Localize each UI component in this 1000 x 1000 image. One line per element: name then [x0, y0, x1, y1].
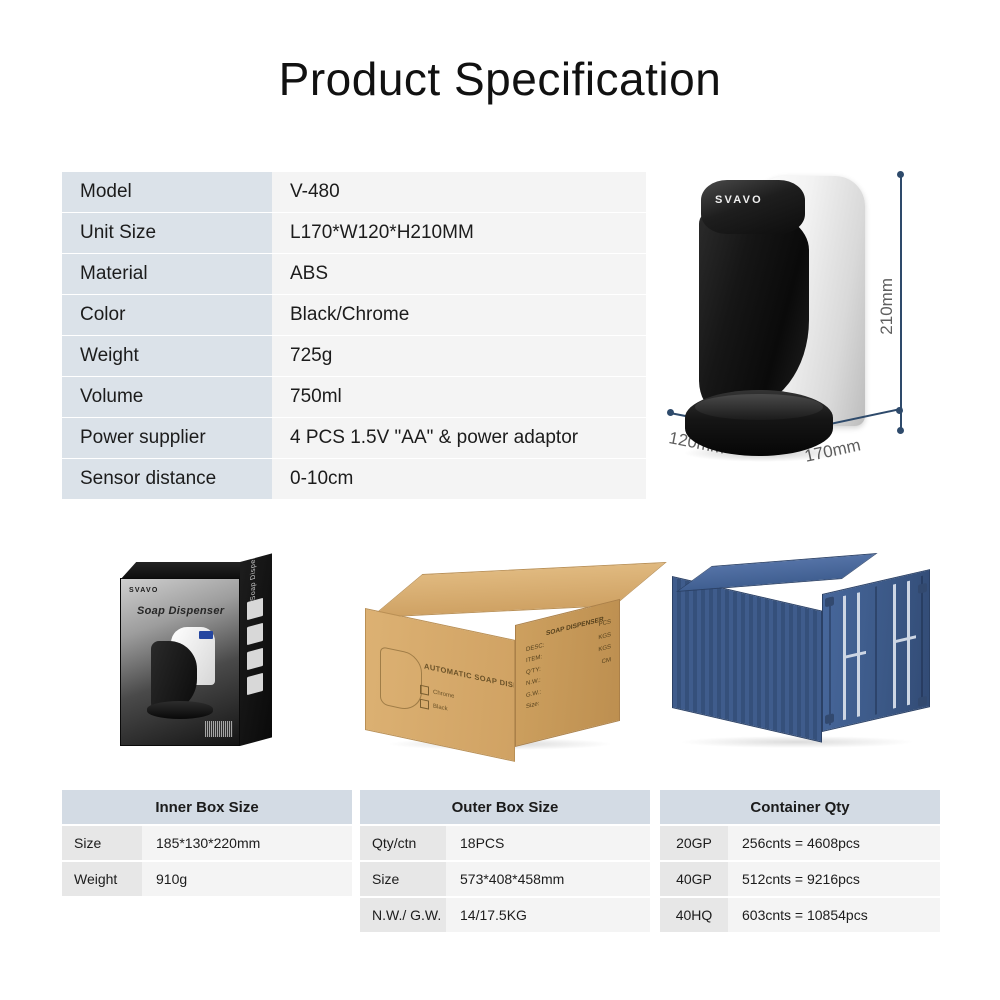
- carton-label-fields: DESC: ITEM: Q'TY: N.W.: G.W.: Size:: [526, 641, 544, 714]
- row-value: 256cnts = 4608pcs: [728, 826, 940, 860]
- table-row: Size 573*408*458mm: [360, 862, 650, 896]
- artwork-base: [147, 701, 213, 719]
- spec-label: Weight: [62, 336, 272, 376]
- dispenser-base: [685, 390, 833, 456]
- artwork-display-icon: [199, 631, 213, 639]
- row-value: 573*408*458mm: [446, 862, 650, 896]
- row-key: Size: [62, 826, 142, 860]
- row-key: 40HQ: [660, 898, 728, 932]
- checkbox-label: Black: [433, 703, 448, 712]
- container-shadow: [682, 736, 912, 748]
- container-corner-fitting: [825, 596, 834, 607]
- container-top-face: [676, 553, 878, 592]
- row-key: 20GP: [660, 826, 728, 860]
- container-rib: [829, 597, 831, 725]
- spec-value: 0-10cm: [272, 459, 646, 499]
- inner-box-product-name: Soap Dispenser: [137, 605, 224, 617]
- spec-value: Black/Chrome: [272, 295, 646, 335]
- dispenser-top-cap: SVAVO: [701, 180, 805, 234]
- carton-front-face: AUTOMATIC SOAP DISPENSER Chrome Black: [365, 608, 515, 762]
- spec-value: 4 PCS 1.5V "AA" & power adaptor: [272, 418, 646, 458]
- container-corner-fitting: [825, 713, 834, 724]
- carton-side-face: SOAP DISPENSER DESC: ITEM: Q'TY: N.W.: G…: [515, 599, 620, 747]
- spec-label: Unit Size: [62, 213, 272, 253]
- table-row: Qty/ctn 18PCS: [360, 826, 650, 860]
- table-header: Inner Box Size: [62, 790, 352, 824]
- carton-top-face: [370, 562, 667, 618]
- row-value: 603cnts = 10854pcs: [728, 898, 940, 932]
- row-key: 40GP: [660, 862, 728, 896]
- spec-label: Power supplier: [62, 418, 272, 458]
- table-row: Weight 725g: [62, 336, 646, 376]
- container-rib: [921, 576, 923, 704]
- inner-box-side-face: Soap Dispenser: [240, 553, 272, 746]
- carton-label-title: SOAP DISPENSER: [546, 616, 604, 637]
- table-row: Weight 910g: [62, 862, 352, 896]
- specification-table: Model V-480 Unit Size L170*W120*H210MM M…: [62, 172, 646, 500]
- inner-box-size-table: Inner Box Size Size 185*130*220mm Weight…: [62, 790, 352, 898]
- container-side-face: [672, 576, 822, 743]
- inner-box-feature-icons: [247, 597, 265, 702]
- dimension-endpoint-icon: [896, 407, 903, 414]
- outer-carton-image: AUTOMATIC SOAP DISPENSER Chrome Black SO…: [360, 570, 650, 750]
- table-header: Container Qty: [660, 790, 940, 824]
- outer-box-size-table: Outer Box Size Qty/ctn 18PCS Size 573*40…: [360, 790, 650, 934]
- inner-box-image: Soap Dispenser SVAVO Soap Dispenser: [112, 556, 280, 756]
- brand-logo: SVAVO: [715, 194, 763, 206]
- container-door-bar: [893, 584, 896, 709]
- dispenser-base-top: [695, 394, 823, 420]
- spec-value: 725g: [272, 336, 646, 376]
- checkbox-row: Chrome: [420, 685, 454, 701]
- row-value: 910g: [142, 862, 352, 896]
- table-row: Sensor distance 0-10cm: [62, 459, 646, 499]
- container-rib: [875, 586, 877, 714]
- feature-icon: [247, 648, 263, 670]
- row-key: N.W./ G.W.: [360, 898, 446, 932]
- table-row: Color Black/Chrome: [62, 295, 646, 335]
- page-title: Product Specification: [0, 52, 1000, 106]
- dimension-endpoint-icon: [667, 409, 674, 416]
- table-row: N.W./ G.W. 14/17.5KG: [360, 898, 650, 932]
- row-key: Qty/ctn: [360, 826, 446, 860]
- table-row: Material ABS: [62, 254, 646, 294]
- container-corner-fitting: [918, 696, 927, 707]
- container-door-handle: [844, 651, 866, 659]
- container-qty-table: Container Qty 20GP 256cnts = 4608pcs 40G…: [660, 790, 940, 934]
- checkbox-label: Chrome: [433, 689, 454, 700]
- row-value: 185*130*220mm: [142, 826, 352, 860]
- table-row: Volume 750ml: [62, 377, 646, 417]
- spec-label: Color: [62, 295, 272, 335]
- dimension-endpoint-icon: [897, 171, 904, 178]
- table-row: Power supplier 4 PCS 1.5V "AA" & power a…: [62, 418, 646, 458]
- container-door-bar: [907, 581, 910, 706]
- table-row: Size 185*130*220mm: [62, 826, 352, 860]
- row-key: Size: [360, 862, 446, 896]
- carton-color-options: Chrome Black: [420, 685, 454, 720]
- table-row: Unit Size L170*W120*H210MM: [62, 213, 646, 253]
- table-row: 40GP 512cnts = 9216pcs: [660, 862, 940, 896]
- container-door-handle: [894, 635, 916, 643]
- spec-value: V-480: [272, 172, 646, 212]
- dimension-label-height: 210mm: [877, 278, 897, 335]
- inner-box-product-artwork: [147, 627, 221, 719]
- row-value: 512cnts = 9216pcs: [728, 862, 940, 896]
- table-header: Outer Box Size: [360, 790, 650, 824]
- spec-value: ABS: [272, 254, 646, 294]
- spec-label: Model: [62, 172, 272, 212]
- table-row: 20GP 256cnts = 4608pcs: [660, 826, 940, 860]
- container-door-face: [822, 569, 930, 732]
- inner-box-side-text: Soap Dispenser: [250, 553, 257, 601]
- checkbox-icon: [420, 685, 429, 696]
- feature-icon: [247, 623, 263, 645]
- row-value: 18PCS: [446, 826, 650, 860]
- checkbox-row: Black: [420, 699, 454, 715]
- feature-icon: [247, 598, 263, 620]
- spec-label: Sensor distance: [62, 459, 272, 499]
- inner-box-brand-logo: SVAVO: [129, 587, 158, 594]
- spec-label: Material: [62, 254, 272, 294]
- dimension-line-height: [900, 174, 902, 432]
- spec-label: Volume: [62, 377, 272, 417]
- packaging-illustrations: Soap Dispenser SVAVO Soap Dispenser: [0, 548, 1000, 773]
- product-image-area: SVAVO 210mm 170mm 120mm: [655, 150, 995, 510]
- row-value: 14/17.5KG: [446, 898, 650, 932]
- row-key: Weight: [62, 862, 142, 896]
- spec-value: 750ml: [272, 377, 646, 417]
- table-row: Model V-480: [62, 172, 646, 212]
- spec-value: L170*W120*H210MM: [272, 213, 646, 253]
- container-corner-fitting: [918, 583, 927, 594]
- feature-icon: [247, 673, 263, 695]
- dimension-endpoint-icon: [897, 427, 904, 434]
- shipping-container-image: [672, 564, 937, 754]
- carton-label-units: PCS KGS KGS CM: [598, 616, 611, 670]
- barcode-icon: [205, 721, 233, 737]
- table-row: 40HQ 603cnts = 10854pcs: [660, 898, 940, 932]
- checkbox-icon: [420, 699, 429, 710]
- carton-product-sketch-icon: [380, 646, 422, 713]
- inner-box-front-face: SVAVO Soap Dispenser: [120, 578, 240, 746]
